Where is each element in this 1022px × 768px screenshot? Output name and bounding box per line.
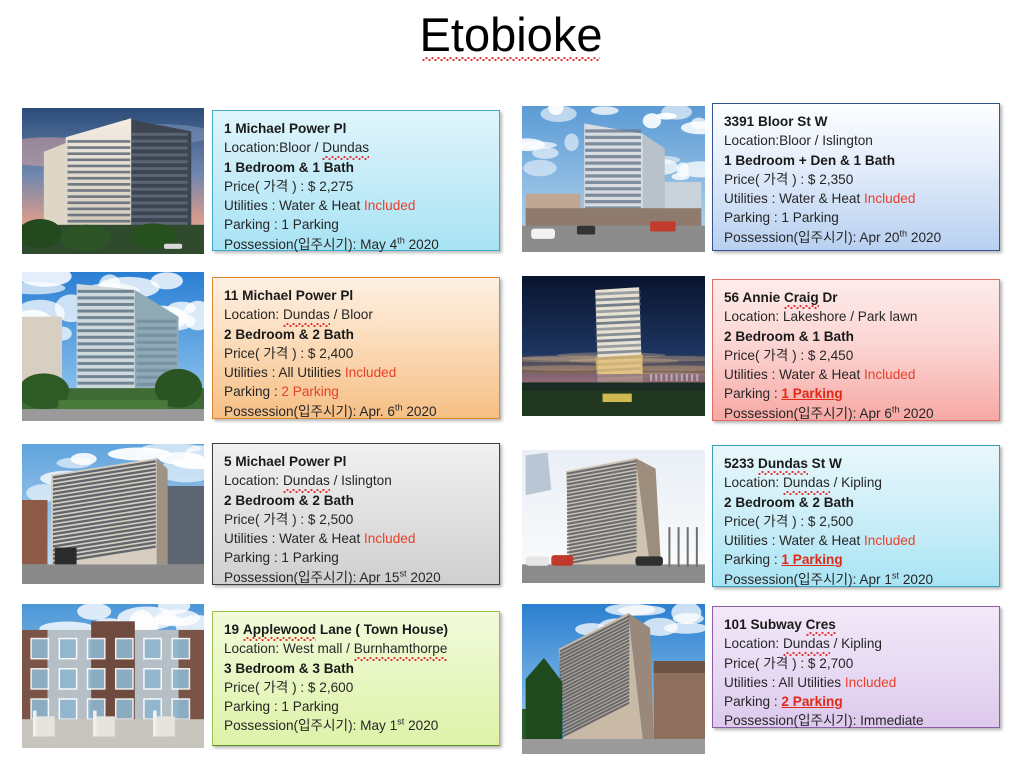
listing-address: 19 Applewood Lane ( Town House) [224,620,491,639]
listing-possession: Possession(입주시기): May 4th 2020 [224,235,491,254]
listing-card-5233-dundas-st-w[interactable]: 5233 Dundas St WLocation: Dundas / Kipli… [712,445,1000,587]
listing-photo-11-michael-power-pl [22,272,204,421]
listing-address: 5233 Dundas St W [724,454,991,473]
listing-utilities: Utilities : Water & Heat Included [724,531,991,550]
listing-price: Price( 가격 ) : $ 2,600 [224,678,491,697]
listing-location: Location: Dundas / Bloor [224,305,491,324]
listing-card-3391-bloor-st-w[interactable]: 3391 Bloor St WLocation:Bloor / Islingto… [712,103,1000,251]
listing-address: 5 Michael Power Pl [224,452,491,471]
page-title-text: Etobioke [420,8,603,61]
listing-photo-1-michael-power-pl [22,108,204,254]
listing-address: 3391 Bloor St W [724,112,991,131]
listing-location: Location: Dundas / Kipling [724,634,991,653]
listing-price: Price( 가격 ) : $ 2,450 [724,346,991,365]
listing-photo-5-michael-power-pl [22,444,204,584]
listing-possession: Possession(입주시기): Apr. 6th 2020 [224,402,491,421]
listing-address: 101 Subway Cres [724,615,991,634]
misspelled-word: Dundas [283,305,330,324]
listing-location: Location:Bloor / Islington [724,131,991,150]
parking-value: 1 Parking [281,699,338,714]
listing-utilities: Utilities : Water & Heat Included [224,196,491,215]
listing-location: Location: Lakeshore / Park lawn [724,307,991,326]
utilities-included-badge: Included [864,367,915,382]
utilities-included-badge: Included [845,675,896,690]
parking-value-highlight: 2 Parking [781,694,842,709]
ordinal-suffix: st [397,717,404,727]
listing-location: Location: Dundas / Islington [224,471,491,490]
listing-photo-56-annie-craig-dr [522,276,705,416]
listing-photo-3391-bloor-st-w [522,106,705,252]
parking-value: 1 Parking [281,550,338,565]
utilities-included-badge: Included [345,365,396,380]
listing-utilities: Utilities : Water & Heat Included [224,529,491,548]
utilities-included-badge: Included [364,198,415,213]
slide-canvas: Etobioke 1 Michael Power PlLocation:Bloo… [0,0,1022,768]
listing-beds-baths: 1 Bedroom + Den & 1 Bath [724,151,991,170]
listing-price: Price( 가격 ) : $ 2,350 [724,170,991,189]
listing-photo-19-applewood-lane [22,604,204,748]
misspelled-word: Applewood [243,620,316,639]
misspelled-word: Craig [784,288,819,307]
listing-parking: Parking : 1 Parking [224,215,491,234]
misspelled-word: Dundas [783,634,830,653]
listing-card-11-michael-power-pl[interactable]: 11 Michael Power PlLocation: Dundas / Bl… [212,277,500,419]
listing-beds-baths: 2 Bedroom & 1 Bath [724,327,991,346]
ordinal-suffix: st [399,568,406,578]
listing-location: Location:Bloor / Dundas [224,138,491,157]
parking-value-highlight: 1 Parking [781,386,842,401]
parking-value: 1 Parking [781,210,838,225]
listing-utilities: Utilities : Water & Heat Included [724,365,991,384]
misspelled-word: Dundas [283,471,330,490]
listing-possession: Possession(입주시기): May 1st 2020 [224,716,491,735]
listing-possession: Possession(입주시기): Apr 6th 2020 [724,404,991,423]
listing-location: Location: West mall / Burnhamthorpe [224,639,491,658]
listing-utilities: Utilities : Water & Heat Included [724,189,991,208]
utilities-included-badge: Included [364,531,415,546]
listing-parking: Parking : 1 Parking [224,548,491,567]
ordinal-suffix: st [892,570,899,580]
listing-price: Price( 가격 ) : $ 2,700 [724,654,991,673]
listing-card-1-michael-power-pl[interactable]: 1 Michael Power PlLocation:Bloor / Dunda… [212,110,500,251]
spellcheck-squiggle-icon [422,57,601,61]
listing-photo-101-subway-cres [522,604,705,754]
misspelled-word: Dundas [783,473,830,492]
utilities-included-badge: Included [864,533,915,548]
page-title-container: Etobioke [0,10,1022,63]
listing-price: Price( 가격 ) : $ 2,500 [724,512,991,531]
listing-possession: Possession(입주시기): Apr 1st 2020 [724,570,991,589]
utilities-included-badge: Included [864,191,915,206]
ordinal-suffix: th [899,228,907,238]
listing-beds-baths: 2 Bedroom & 2 Bath [224,491,491,510]
misspelled-word: Dundas [322,138,369,157]
misspelled-word: Cres [806,615,836,634]
listing-possession: Possession(입주시기): Apr 15st 2020 [224,568,491,587]
listing-card-5-michael-power-pl[interactable]: 5 Michael Power PlLocation: Dundas / Isl… [212,443,500,585]
listing-beds-baths: 2 Bedroom & 2 Bath [224,325,491,344]
ordinal-suffix: th [892,404,900,414]
listing-parking: Parking : 2 Parking [724,692,991,711]
listing-parking: Parking : 1 Parking [724,384,991,403]
listing-beds-baths: 3 Bedroom & 3 Bath [224,659,491,678]
listing-card-19-applewood-lane[interactable]: 19 Applewood Lane ( Town House)Location:… [212,611,500,746]
listing-card-56-annie-craig-dr[interactable]: 56 Annie Craig DrLocation: Lakeshore / P… [712,279,1000,421]
listing-beds-baths: 1 Bedroom & 1 Bath [224,158,491,177]
listing-parking: Parking : 2 Parking [224,382,491,401]
parking-value-highlight: 1 Parking [781,552,842,567]
listing-parking: Parking : 1 Parking [724,208,991,227]
misspelled-word: Burnhamthorpe [354,639,448,658]
parking-value-highlight: 2 Parking [281,384,338,399]
ordinal-suffix: th [397,235,405,245]
misspelled-word: Dundas [758,454,808,473]
listing-possession: Possession(입주시기): Apr 20th 2020 [724,228,991,247]
listing-parking: Parking : 1 Parking [724,550,991,569]
listing-price: Price( 가격 ) : $ 2,275 [224,177,491,196]
listing-parking: Parking : 1 Parking [224,697,491,716]
parking-value: 1 Parking [281,217,338,232]
listing-utilities: Utilities : All Utilities Included [224,363,491,382]
page-title: Etobioke [420,10,603,63]
listing-possession: Possession(입주시기): Immediate [724,711,991,730]
listing-utilities: Utilities : All Utilities Included [724,673,991,692]
listing-beds-baths: 2 Bedroom & 2 Bath [724,493,991,512]
listing-price: Price( 가격 ) : $ 2,400 [224,344,491,363]
listing-address: 1 Michael Power Pl [224,119,491,138]
listing-address: 56 Annie Craig Dr [724,288,991,307]
ordinal-suffix: th [395,402,403,412]
listing-photo-5233-dundas-st-w [522,450,705,583]
listing-price: Price( 가격 ) : $ 2,500 [224,510,491,529]
listing-card-101-subway-cres[interactable]: 101 Subway CresLocation: Dundas / Kiplin… [712,606,1000,728]
listing-location: Location: Dundas / Kipling [724,473,991,492]
listing-address: 11 Michael Power Pl [224,286,491,305]
